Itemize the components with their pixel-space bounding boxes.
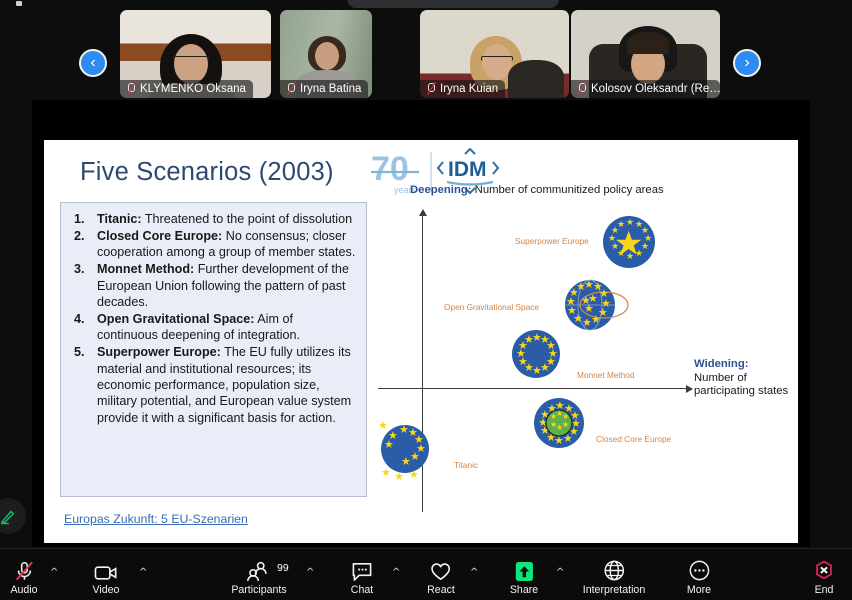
scenario-term: Monnet Method: (97, 262, 194, 276)
eu-stars-core: ★★ ★★ ★★ ★★ ★★ ★★ ★★ ★★ ★★ (534, 398, 584, 448)
svg-text:★: ★ (550, 420, 557, 429)
microphone-muted-icon (285, 82, 296, 95)
ellipsis-icon (687, 557, 710, 582)
presentation-slide: Five Scenarios (2003) Titanic: Threatene… (44, 140, 798, 543)
participant-name-badge: Iryna Kuian (420, 80, 505, 98)
x-axis-label-text: Number of participating states (694, 372, 788, 398)
svg-text:★: ★ (550, 412, 557, 421)
svg-text:★: ★ (582, 317, 592, 329)
microphone-muted-icon (13, 557, 35, 582)
participant-name: Kolosov Oleksandr (Re… (591, 83, 720, 95)
list-item: Closed Core Europe: No consensus; closer… (69, 228, 357, 261)
datapoint-superpower-europe: ★★ ★★ ★★ ★★ ★★ ★★ (603, 216, 655, 268)
video-button[interactable]: Video (93, 557, 120, 596)
participant-name: Iryna Batina (300, 83, 361, 95)
point-label-titanic: Titanic (454, 460, 478, 470)
datapoint-open-gravitational-space: ★★ ★★ ★★ ★★ ★★ ★★ ★★ ★ (562, 276, 642, 334)
torso (508, 60, 564, 98)
list-item: Monnet Method: Further development of th… (69, 261, 357, 310)
chat-button[interactable]: Chat (351, 557, 374, 596)
share-screen-icon (514, 557, 535, 582)
svg-text:★: ★ (394, 471, 404, 483)
eu-scattered-graphic: ★★ ★★ ★★ ★★ ★★ ★★ (372, 418, 438, 484)
end-label: End (815, 584, 834, 596)
datapoint-monnet-method: ★★ ★★ ★★ ★★ ★★ ★★ (512, 330, 560, 378)
react-label: React (427, 584, 455, 596)
slide-title: Five Scenarios (2003) (80, 158, 334, 187)
meeting-toolbar-pill[interactable] (347, 0, 559, 8)
audio-label: Audio (10, 584, 37, 596)
svg-text:★: ★ (388, 430, 398, 442)
heart-icon (430, 557, 453, 582)
x-axis-label: Widening: Number of participating states (694, 358, 804, 399)
datapoint-closed-core-europe: ★★ ★★ ★★ ★★ ★★ ★★ ★★ ★★ ★★ (534, 398, 584, 448)
source-link[interactable]: Europas Zukunft: 5 EU-Szenarien (64, 512, 248, 526)
point-label-closed-core-europe: Closed Core Europe (596, 434, 671, 444)
svg-text:★: ★ (401, 456, 411, 468)
share-button[interactable]: Share (510, 557, 538, 596)
zoom-meeting-window: ‹ › KLYMENKO Oksana (0, 0, 852, 600)
microphone-muted-icon (425, 82, 436, 95)
svg-text:★: ★ (410, 451, 420, 463)
eu-orbit-graphic: ★★ ★★ ★★ ★★ ★★ ★★ ★★ ★ (562, 276, 642, 334)
chat-bubble-icon (351, 557, 374, 582)
scenario-term: Superpower Europe: (97, 345, 221, 359)
participants-icon (246, 557, 271, 582)
x-axis (378, 388, 688, 389)
face (174, 44, 208, 84)
svg-text:★: ★ (591, 314, 601, 326)
end-call-button[interactable]: End (813, 557, 835, 596)
microphone-muted-icon (125, 82, 136, 95)
x-axis-label-bold: Widening: (694, 358, 749, 370)
filmstrip-prev-button[interactable]: ‹ (79, 49, 107, 77)
glasses (173, 56, 209, 61)
share-label: Share (510, 584, 538, 596)
list-item: Superpower Europe: The EU fully utilizes… (69, 344, 357, 426)
y-axis-label-bold: Deepening: (410, 184, 472, 196)
participant-tile[interactable]: KLYMENKO Oksana (120, 10, 271, 98)
eu-stars: ★★ ★★ ★★ ★★ ★★ ★★ (512, 330, 560, 378)
participant-tile[interactable]: Kolosov Oleksandr (Re… (571, 10, 720, 98)
participant-name-badge: Iryna Batina (280, 80, 368, 98)
svg-text:★: ★ (378, 420, 388, 432)
svg-text:★: ★ (635, 248, 643, 258)
video-label: Video (93, 584, 120, 596)
participants-label: Participants (231, 584, 286, 596)
eu-stars: ★★ ★★ ★★ ★★ ★★ ★★ (603, 216, 655, 268)
participant-name: Iryna Kuian (440, 83, 498, 95)
camera-icon (94, 557, 119, 582)
y-axis-label-text: Number of communitized policy areas (472, 184, 664, 196)
scenario-term: Titanic: (97, 212, 142, 226)
svg-text:★: ★ (617, 219, 625, 229)
scenario-term: Open Gravitational Space: (97, 312, 254, 326)
participant-tile[interactable]: Iryna Kuian (420, 10, 569, 98)
video-caret-icon[interactable]: ^ (139, 567, 147, 578)
more-button[interactable]: More (687, 557, 711, 596)
chevron-right-icon: › (744, 55, 749, 71)
participant-tile[interactable]: Iryna Batina (280, 10, 372, 98)
participant-filmstrip: ‹ › KLYMENKO Oksana (0, 10, 852, 98)
point-label-open-gravitational-space: Open Gravitational Space (444, 302, 539, 312)
list-item: Open Gravitational Space: Aim of continu… (69, 311, 357, 344)
svg-text:★: ★ (626, 217, 634, 227)
participant-name-badge: KLYMENKO Oksana (120, 80, 253, 98)
svg-text:★: ★ (576, 281, 586, 293)
list-item: Titanic: Threatened to the point of diss… (69, 211, 357, 227)
point-label-superpower-europe: Superpower Europe (515, 236, 589, 246)
glasses (481, 56, 513, 61)
scenarios-scatter-chart: Deepening: Number of communitized policy… (384, 162, 798, 542)
datapoint-titanic: ★★ ★★ ★★ ★★ ★★ ★★ (372, 418, 438, 484)
audio-caret-icon[interactable]: ^ (50, 567, 58, 578)
pen-icon (0, 507, 17, 525)
chevron-left-icon: ‹ (90, 55, 95, 71)
chat-caret-icon[interactable]: ^ (392, 567, 400, 578)
svg-text:★: ★ (524, 334, 534, 346)
scenario-term: Closed Core Europe: (97, 229, 222, 243)
face (315, 42, 339, 70)
participant-name-badge: Kolosov Oleksandr (Re… (571, 80, 720, 98)
globe-icon (603, 557, 626, 582)
svg-text:★: ★ (381, 467, 391, 479)
react-button[interactable]: React (427, 557, 455, 596)
participant-name: KLYMENKO Oksana (140, 83, 246, 95)
point-label-monnet-method: Monnet Method (577, 370, 635, 380)
audio-button[interactable]: Audio (10, 557, 37, 596)
y-axis-label: Deepening: Number of communitized policy… (410, 184, 664, 196)
scenario-text: Threatened to the point of dissolution (142, 212, 353, 226)
more-label: More (687, 584, 711, 596)
share-caret-icon[interactable]: ^ (556, 567, 564, 578)
shared-screen-frame: Five Scenarios (2003) Titanic: Threatene… (32, 100, 810, 547)
svg-text:★: ★ (584, 303, 594, 315)
annotation-pen-button[interactable] (0, 498, 26, 534)
hair (627, 32, 669, 54)
participants-count-badge: 99 (277, 562, 289, 574)
filmstrip-next-button[interactable]: › (733, 49, 761, 77)
svg-text:★: ★ (409, 469, 419, 481)
interpretation-button[interactable]: Interpretation (583, 557, 645, 596)
microphone-muted-icon (576, 82, 587, 95)
interpretation-label: Interpretation (583, 584, 645, 596)
window-indicator (16, 1, 22, 6)
svg-text:★: ★ (626, 251, 634, 261)
participants-caret-icon[interactable]: ^ (306, 567, 314, 578)
react-caret-icon[interactable]: ^ (470, 567, 478, 578)
meeting-controls-toolbar: Audio ^ Video ^ Pa (0, 548, 852, 600)
end-call-icon (813, 557, 835, 582)
scenarios-list-box: Titanic: Threatened to the point of diss… (60, 202, 367, 497)
chat-label: Chat (351, 584, 373, 596)
